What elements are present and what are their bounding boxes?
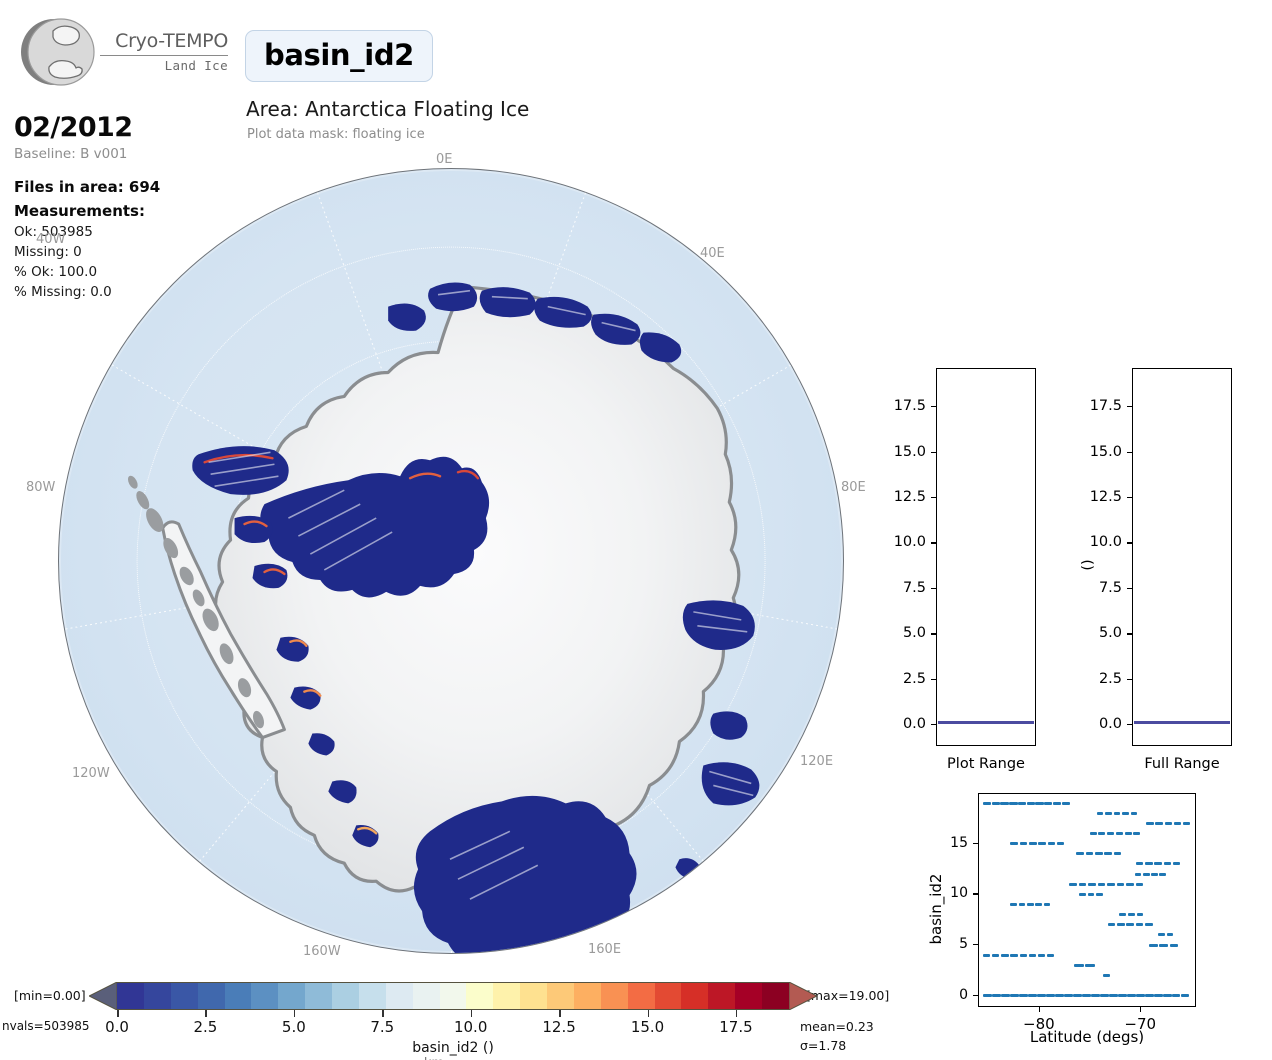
scatter-y-tick — [973, 843, 978, 844]
colorbar-segment — [547, 983, 574, 1009]
scatter-point-run — [1018, 802, 1026, 805]
cryo-tempo-logo: Cryo-TEMPO Land Ice — [14, 12, 229, 94]
scatter-point-run — [1074, 964, 1083, 967]
colorbar-max-label: [max=19.00] — [806, 988, 889, 1003]
colorbar-tick-label: 12.5 — [542, 1018, 575, 1036]
scatter-point-run — [1038, 954, 1045, 957]
scatter-x-tick — [1039, 1007, 1040, 1012]
polar-map[interactable]: 70S — [58, 168, 844, 954]
scatter-point-run — [1135, 873, 1141, 876]
scatter-point-run — [983, 954, 990, 957]
boxplot-y-tick — [931, 542, 936, 543]
scatter-point-run — [1079, 883, 1087, 886]
scatter-point-run — [1020, 954, 1027, 957]
scatter-point-run — [1170, 944, 1178, 947]
longitude-label-40w: 40W — [36, 232, 65, 247]
scatter-point-run — [1145, 923, 1153, 926]
scatter-point-run — [1109, 994, 1118, 997]
colorbar-segment — [440, 983, 467, 1009]
colorbar-gradient[interactable] — [117, 982, 789, 1010]
scatter-point-run — [1098, 832, 1105, 835]
scatter-point-run — [1090, 832, 1097, 835]
scatter-point-run — [1001, 994, 1010, 997]
colorbar-tick-label: 10.0 — [454, 1018, 487, 1036]
scatter-x-tick-label: −80 — [1023, 1015, 1055, 1033]
colorbar-segment — [466, 983, 493, 1009]
scatter-point-run — [1125, 832, 1132, 835]
colorbar-segment — [171, 983, 198, 1009]
colorbar-segment — [574, 983, 601, 1009]
scatter-point-run — [1159, 873, 1165, 876]
scatter-point-run — [1046, 994, 1055, 997]
scatter-point-run — [1079, 893, 1086, 896]
mask-subtitle: Plot data mask: floating ice — [247, 127, 425, 142]
scatter-point-run — [1114, 852, 1122, 855]
colorbar-segment — [655, 983, 682, 1009]
scatter-point-run — [1100, 994, 1109, 997]
scatter-point-run — [1076, 852, 1084, 855]
longitude-label-120w: 120W — [72, 766, 110, 781]
scatter-point-run — [1044, 802, 1052, 805]
scatter-basin-vs-latitude[interactable]: Latitude (degs) basin_id2 051015−80−70 — [900, 780, 1272, 1060]
boxplot-y-tick — [1127, 542, 1132, 543]
scatter-point-run — [1082, 994, 1091, 997]
colorbar[interactable]: [min=0.00] [max=19.00] 0.02.55.07.510.01… — [0, 978, 900, 1060]
scatter-y-tick-label: 5 — [900, 936, 968, 952]
scatter-point-run — [1122, 812, 1129, 815]
colorbar-ticks — [117, 1010, 789, 1018]
scatter-point-run — [1069, 883, 1077, 886]
scatter-point-run — [1117, 883, 1125, 886]
colorbar-tick — [559, 1010, 561, 1017]
scatter-point-run — [1172, 994, 1181, 997]
longitude-label-120e: 120E — [800, 754, 833, 769]
scatter-point-run — [1035, 802, 1043, 805]
colorbar-segment — [225, 983, 252, 1009]
boxplot-y-tick — [931, 497, 936, 498]
boxplot-y-tick — [931, 406, 936, 407]
boxplot-full-range[interactable]: 0.02.55.07.510.012.515.017.5Full Range() — [1076, 360, 1272, 770]
scatter-point-run — [1073, 994, 1082, 997]
colorbar-tick-label: 17.5 — [719, 1018, 752, 1036]
boxplot-y-tick — [1127, 497, 1132, 498]
scatter-point-run — [1048, 842, 1055, 845]
colorbar-segment — [601, 983, 628, 1009]
scatter-point-run — [1055, 994, 1064, 997]
scatter-point-run — [1163, 994, 1172, 997]
cryo-tempo-plot-page: Cryo-TEMPO Land Ice 02/2012 Baseline: B … — [0, 0, 1272, 1060]
scatter-point-run — [1000, 802, 1008, 805]
antarctica-continent — [59, 169, 843, 953]
baseline-label: Baseline: B v001 — [14, 146, 229, 162]
scatter-point-run — [1009, 802, 1017, 805]
scatter-point-run — [1154, 994, 1163, 997]
colorbar-over-arrow-icon — [789, 982, 817, 1010]
boxplot-plot-range[interactable]: 0.02.55.07.510.012.515.017.5Plot Range — [880, 360, 1080, 770]
scatter-point-run — [1044, 903, 1051, 906]
colorbar-segment — [708, 983, 735, 1009]
scatter-point-run — [1173, 862, 1180, 865]
colorbar-segment — [520, 983, 547, 1009]
scatter-point-run — [1136, 883, 1144, 886]
boxplot-y-tick-label: 5.0 — [880, 625, 926, 641]
boxplot-y-tick-label: 15.0 — [1076, 444, 1122, 460]
colorbar-segment — [762, 983, 789, 1009]
scatter-point-run — [1149, 944, 1157, 947]
scatter-point-run — [1131, 812, 1138, 815]
scatter-point-run — [1118, 994, 1127, 997]
scatter-point-run — [983, 802, 991, 805]
boxplot-box — [1134, 721, 1230, 724]
scatter-point-run — [1010, 954, 1017, 957]
scatter-point-run — [1010, 994, 1019, 997]
scatter-point-run — [1035, 903, 1042, 906]
scatter-point-run — [1103, 974, 1110, 977]
colorbar-axis-label: basin_id2 () — [117, 1040, 789, 1056]
boxplot-y-tick — [931, 633, 936, 634]
boxplot-y-tick-label: 17.5 — [880, 398, 926, 414]
scatter-point-run — [1137, 913, 1144, 916]
scatter-point-run — [1114, 812, 1121, 815]
colorbar-segment — [628, 983, 655, 1009]
scatter-point-run — [1095, 852, 1103, 855]
scatter-point-run — [1107, 883, 1115, 886]
scatter-point-run — [1127, 994, 1136, 997]
boxplot-box — [938, 721, 1034, 724]
scatter-y-tick-label: 10 — [900, 885, 968, 901]
scatter-point-run — [983, 994, 992, 997]
scatter-point-run — [1126, 883, 1134, 886]
colorbar-segment — [386, 983, 413, 1009]
scatter-y-tick — [973, 995, 978, 996]
colorbar-segment — [198, 983, 225, 1009]
scatter-point-run — [1047, 954, 1054, 957]
scatter-point-run — [992, 802, 1000, 805]
colorbar-sigma-label: σ=1.78 — [800, 1038, 846, 1053]
colorbar-segment — [144, 983, 171, 1009]
boxplot-y-tick-label: 12.5 — [1076, 489, 1122, 505]
colorbar-tick — [205, 1010, 207, 1017]
colorbar-tick-labels: 0.02.55.07.510.012.515.017.5 — [117, 1018, 789, 1038]
boxplot-axes[interactable] — [936, 368, 1036, 746]
scatter-point-run — [1107, 832, 1114, 835]
scatter-point-run — [1145, 994, 1154, 997]
scatter-point-run — [1145, 862, 1152, 865]
scatter-x-tick — [1140, 1007, 1141, 1012]
scatter-point-run — [1057, 842, 1064, 845]
scatter-x-tick-label: −70 — [1124, 1015, 1156, 1033]
boxplot-y-tick-label: 10.0 — [880, 534, 926, 550]
boxplot-axes[interactable] — [1132, 368, 1232, 746]
scatter-point-run — [992, 994, 1001, 997]
scatter-point-run — [1158, 933, 1164, 936]
longitude-label-160e: 160E — [588, 942, 621, 957]
boxplot-y-tick-label: 17.5 — [1076, 398, 1122, 414]
colorbar-min-label: [min=0.00] — [14, 988, 86, 1003]
scatter-point-run — [1105, 812, 1112, 815]
colorbar-nvals-label: nvals=503985 — [2, 1019, 90, 1033]
colorbar-tick — [382, 1010, 384, 1017]
scatter-point-run — [1136, 862, 1143, 865]
scatter-point-run — [1098, 883, 1106, 886]
scatter-x-axis-title: Latitude (degs) — [978, 1028, 1196, 1046]
scatter-point-run — [1181, 994, 1190, 997]
colorbar-tick — [736, 1010, 738, 1017]
boxplot-y-tick-label: 5.0 — [1076, 625, 1122, 641]
colorbar-segment — [493, 983, 520, 1009]
scatter-point-run — [1126, 923, 1134, 926]
area-title: Area: Antarctica Floating Ice — [246, 97, 529, 121]
scatter-point-run — [1064, 994, 1073, 997]
longitude-label-80e: 80E — [841, 480, 866, 495]
scatter-point-run — [1029, 842, 1036, 845]
scatter-point-run — [1097, 812, 1104, 815]
boxplot-y-tick — [1127, 633, 1132, 634]
colorbar-tick-label: 7.5 — [370, 1018, 394, 1036]
colorbar-tick-label: 5.0 — [282, 1018, 306, 1036]
boxplot-y-tick-label: 2.5 — [1076, 671, 1122, 687]
colorbar-segment — [251, 983, 278, 1009]
boxplot-y-tick — [1127, 588, 1132, 589]
scatter-y-tick-label: 15 — [900, 835, 968, 851]
scatter-point-run — [1117, 923, 1125, 926]
scatter-point-run — [1088, 893, 1095, 896]
boxplot-y-tick — [1127, 406, 1132, 407]
colorbar-segment — [117, 983, 144, 1009]
colorbar-tick-label: 15.0 — [631, 1018, 664, 1036]
boxplot-y-tick-label: 15.0 — [880, 444, 926, 460]
boxplot-y-tick — [1127, 679, 1132, 680]
scatter-point-run — [1019, 903, 1026, 906]
boxplot-x-label: Plot Range — [936, 756, 1036, 772]
scatter-point-run — [1010, 842, 1017, 845]
scatter-point-run — [1151, 873, 1157, 876]
scatter-point-run — [1085, 964, 1094, 967]
scatter-point-run — [1136, 923, 1144, 926]
scatter-point-run — [1028, 994, 1037, 997]
scatter-point-run — [1174, 822, 1181, 825]
scatter-point-run — [1091, 994, 1100, 997]
colorbar-mean-label: mean=0.23 — [800, 1019, 874, 1034]
boxplot-y-tick — [931, 679, 936, 680]
scatter-point-run — [1062, 802, 1070, 805]
scatter-point-run — [1010, 903, 1017, 906]
longitude-label-160w: 160W — [303, 944, 341, 959]
scatter-point-run — [1136, 994, 1145, 997]
scatter-point-run — [1116, 832, 1123, 835]
colorbar-segment — [305, 983, 332, 1009]
boxplot-y-tick-label: 0.0 — [1076, 716, 1122, 732]
boxplot-y-tick-label: 2.5 — [880, 671, 926, 687]
scatter-point-run — [1027, 903, 1034, 906]
colorbar-segment — [735, 983, 762, 1009]
map-disc: 70S — [58, 168, 844, 954]
boxplot-y-tick — [931, 588, 936, 589]
scatter-point-run — [1146, 822, 1153, 825]
boxplot-y-axis-title: () — [1080, 545, 1096, 585]
boxplot-y-tick-label: 7.5 — [880, 580, 926, 596]
scatter-plot-area[interactable] — [978, 793, 1196, 1007]
scatter-point-run — [1164, 862, 1171, 865]
colorbar-segment — [359, 983, 386, 1009]
colorbar-segment — [413, 983, 440, 1009]
scatter-point-run — [1096, 893, 1103, 896]
boxplot-y-tick-label: 12.5 — [880, 489, 926, 505]
parameter-badge[interactable]: basin_id2 — [245, 30, 433, 82]
scatter-y-tick — [973, 893, 978, 894]
longitude-label-0e: 0E — [436, 152, 453, 167]
scatter-point-run — [1159, 944, 1167, 947]
boxplot-y-tick — [931, 452, 936, 453]
scatter-point-run — [992, 954, 999, 957]
scatter-point-run — [1165, 822, 1172, 825]
scatter-point-run — [1128, 913, 1135, 916]
scatter-point-run — [1027, 802, 1035, 805]
date-label: 02/2012 — [14, 112, 229, 144]
colorbar-tick — [471, 1010, 473, 1017]
scatter-point-run — [1143, 873, 1149, 876]
scatter-point-run — [1133, 832, 1140, 835]
colorbar-segment — [278, 983, 305, 1009]
scatter-point-run — [1086, 852, 1094, 855]
boxplot-y-tick — [1127, 724, 1132, 725]
scatter-point-run — [1104, 852, 1112, 855]
colorbar-under-arrow-icon — [89, 982, 117, 1010]
colorbar-tick-label: 2.5 — [193, 1018, 217, 1036]
scatter-point-run — [1037, 994, 1046, 997]
scatter-y-tick — [973, 944, 978, 945]
logo-divider — [100, 55, 228, 56]
logo-subtitle: Land Ice — [98, 58, 228, 73]
logo-title: Cryo-TEMPO — [98, 32, 228, 52]
boxplot-y-tick — [931, 724, 936, 725]
colorbar-tick — [117, 1010, 119, 1017]
colorbar-tick-label: 0.0 — [105, 1018, 129, 1036]
scatter-point-run — [1038, 842, 1045, 845]
scatter-point-run — [1167, 933, 1173, 936]
scatter-point-run — [1088, 883, 1096, 886]
longitude-label-80w: 80W — [26, 480, 55, 495]
scatter-point-run — [1019, 994, 1028, 997]
colorbar-tick — [648, 1010, 650, 1017]
colorbar-segment — [681, 983, 708, 1009]
boxplot-x-label: Full Range — [1132, 756, 1232, 772]
scatter-point-run — [1029, 954, 1036, 957]
scatter-point-run — [1108, 923, 1116, 926]
globe-icon — [20, 14, 96, 90]
scatter-y-tick-label: 0 — [900, 987, 968, 1003]
scatter-point-run — [1053, 802, 1061, 805]
scatter-point-run — [1155, 822, 1162, 825]
scatter-point-run — [1020, 842, 1027, 845]
scatter-point-run — [1001, 954, 1008, 957]
colorbar-tick — [294, 1010, 296, 1017]
scatter-point-run — [1183, 822, 1190, 825]
scatter-point-run — [1154, 862, 1161, 865]
colorbar-segment — [332, 983, 359, 1009]
scatter-point-run — [1119, 913, 1126, 916]
longitude-label-40e: 40E — [700, 246, 725, 261]
boxplot-y-tick — [1127, 452, 1132, 453]
boxplot-y-tick-label: 0.0 — [880, 716, 926, 732]
